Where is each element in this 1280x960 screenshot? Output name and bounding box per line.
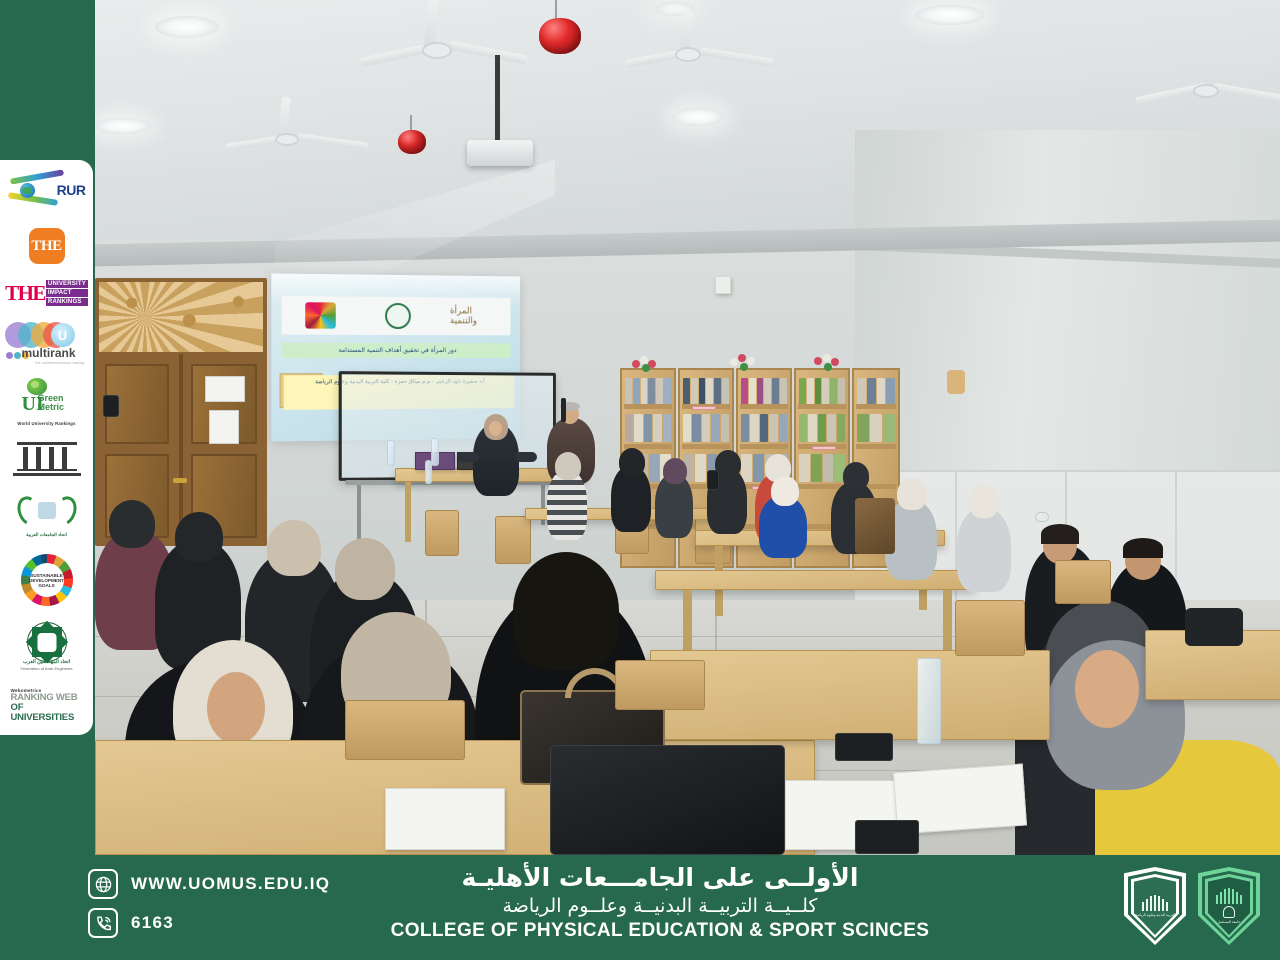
contact-block: WWW.UOMUS.EDU.IQ 6163 bbox=[88, 869, 388, 947]
shoulder-bag bbox=[855, 498, 895, 554]
greenmetric-icon: UI Green Metric World University Ranking… bbox=[5, 378, 89, 426]
ranking-logo-webometrics: Webometrics RANKING WEB OF UNIVERSITIES bbox=[5, 688, 89, 723]
footer-line-en: COLLEGE OF PHYSICAL EDUCATION & SPORT SC… bbox=[380, 919, 940, 943]
document-stack bbox=[385, 788, 505, 850]
arab-universities-caption: اتحاد الجامعات العربية bbox=[12, 532, 82, 538]
ceiling-fan bbox=[225, 105, 375, 155]
audience-headscarf bbox=[771, 476, 799, 506]
footer-subline-ar: كلــيــة التربيــة البدنيــة وعلــوم الر… bbox=[380, 893, 940, 919]
whiteboard-leg bbox=[357, 485, 361, 540]
audience-headscarf bbox=[969, 486, 999, 518]
website-url: WWW.UOMUS.EDU.IQ bbox=[131, 874, 330, 894]
door-handle[interactable] bbox=[173, 478, 187, 483]
university-crest-caption: جامعة المستقبل bbox=[1218, 920, 1241, 924]
door-notice bbox=[209, 410, 239, 444]
ranking-logo-unesco-columns bbox=[5, 442, 89, 478]
fae-caption-en: Federation of Arab Engineers bbox=[14, 666, 80, 671]
audience-headscarf bbox=[843, 462, 869, 490]
the-impact-the-label: THE bbox=[5, 283, 45, 304]
ranking-logo-arab-universities: اتحاد الجامعات العربية bbox=[5, 494, 89, 538]
projector bbox=[467, 140, 533, 166]
ranking-logo-the-impact: THE UNIVERSITY IMPACT RANKINGS bbox=[5, 280, 89, 306]
contact-website-row[interactable]: WWW.UOMUS.EDU.IQ bbox=[88, 869, 388, 899]
chair bbox=[1055, 560, 1111, 604]
smartphone bbox=[835, 733, 893, 761]
event-photo: المرأة والتنمية دور المرأة في تحقيق أهدا… bbox=[95, 0, 1280, 855]
audience-headscarf bbox=[109, 500, 155, 548]
door-lattice-panel bbox=[99, 282, 263, 352]
audience-headscarf bbox=[335, 538, 395, 600]
wall-notice bbox=[715, 276, 731, 294]
audience-member-hair bbox=[1041, 524, 1079, 544]
audience-member-face bbox=[207, 672, 265, 744]
rur-icon: RUR bbox=[6, 170, 88, 212]
raised-smartphone bbox=[707, 470, 719, 490]
table-leg bbox=[405, 482, 411, 542]
the-impact-line1: UNIVERSITY bbox=[46, 280, 88, 288]
audience-headscarf bbox=[267, 520, 321, 576]
globe-www-icon bbox=[88, 869, 118, 899]
rur-label: RUR bbox=[57, 182, 86, 198]
contact-phone-row[interactable]: 6163 bbox=[88, 908, 388, 938]
ceiling-light bbox=[672, 108, 724, 126]
ranking-logo-multirank: U multirank the multidimensional ranking bbox=[5, 322, 89, 362]
multirank-u-mark: U bbox=[51, 323, 75, 347]
audience-member bbox=[547, 470, 587, 540]
audience-headscarf bbox=[619, 448, 645, 476]
ranking-logo-sdg: SUSTAINABLE DEVELOPMENT GOALS bbox=[5, 554, 89, 606]
greenmetric-name2: Metric bbox=[38, 403, 65, 412]
footer-titles: الأولــى على الجامـــعات الأهليـة كلــيـ… bbox=[380, 863, 940, 943]
ceiling-light bbox=[915, 5, 985, 25]
presenter-woman-face bbox=[489, 421, 502, 436]
webometrics-line2: OF UNIVERSITIES bbox=[11, 703, 89, 723]
ranking-logo-rur: RUR bbox=[5, 170, 89, 212]
audience-headscarf bbox=[555, 452, 581, 480]
presenter-woman-arm bbox=[457, 452, 479, 462]
water-bottle bbox=[917, 658, 941, 744]
multirank-tagline: the multidimensional ranking bbox=[36, 361, 85, 365]
audience-member-hair bbox=[1123, 538, 1163, 558]
flower-arrangement bbox=[728, 354, 762, 370]
ceiling-fan bbox=[1135, 60, 1280, 115]
audience-headscarf bbox=[897, 478, 927, 510]
phone-number: 6163 bbox=[131, 913, 174, 933]
flower-arrangement bbox=[812, 354, 846, 370]
slide-sdg-logo bbox=[296, 300, 345, 331]
college-crest-icon: التربية البدنية وعلوم الرياضة bbox=[1124, 867, 1186, 945]
chair bbox=[955, 600, 1025, 656]
fae-caption-ar: اتحاد المهندسين العرب bbox=[14, 659, 80, 665]
phone-icon bbox=[88, 908, 118, 938]
audience-headscarf bbox=[175, 512, 223, 562]
multirank-icon: U multirank the multidimensional ranking bbox=[5, 322, 89, 362]
projector-mount bbox=[495, 55, 500, 143]
chair bbox=[345, 700, 465, 760]
fire-ball-rod bbox=[410, 115, 412, 131]
slide-logo-row: المرأة والتنمية bbox=[282, 296, 511, 335]
footer-bar: WWW.UOMUS.EDU.IQ 6163 الأولــى على الجام… bbox=[0, 855, 1280, 960]
chair bbox=[495, 516, 531, 564]
door-notice bbox=[205, 376, 245, 402]
slide-title: دور المرأة في تحقيق أهداف التنمية المستد… bbox=[282, 343, 511, 358]
water-bottle bbox=[431, 438, 439, 466]
the-label: THE bbox=[29, 228, 65, 264]
university-crest-icon: جامعة المستقبل bbox=[1198, 867, 1260, 945]
ranking-logo-the: THE bbox=[5, 228, 89, 264]
the-impact-line2: IMPACT bbox=[46, 289, 88, 297]
ceiling-fan bbox=[360, 12, 530, 72]
sdg-wheel-icon: SUSTAINABLE DEVELOPMENT GOALS bbox=[21, 554, 73, 606]
chair bbox=[425, 510, 459, 556]
the-impact-line3: RANKINGS bbox=[46, 298, 88, 306]
ranking-logo-ui-greenmetric: UI Green Metric World University Ranking… bbox=[5, 378, 89, 426]
fire-suppression-ball bbox=[539, 18, 581, 54]
ceiling-light bbox=[95, 118, 151, 134]
audience-headscarf bbox=[663, 458, 687, 484]
crest-group: التربية البدنية وعلوم الرياضة جامعة المس… bbox=[1124, 867, 1260, 945]
audience-member-face bbox=[1075, 650, 1139, 728]
raised-smartphone bbox=[103, 395, 119, 417]
footer-headline-ar: الأولــى على الجامـــعات الأهليـة bbox=[380, 863, 940, 893]
smartphone bbox=[855, 820, 919, 854]
audience-member-hair bbox=[513, 552, 619, 670]
rankings-sidebar: RUR THE THE UNIVERSITY IMPACT RANKINGS U bbox=[0, 160, 93, 735]
laptop-bag bbox=[550, 745, 785, 855]
arab-universities-icon: اتحاد الجامعات العربية bbox=[12, 494, 82, 538]
flower-arrangement bbox=[630, 356, 664, 372]
ranking-logo-federation-arab-engineers: اتحاد المهندسين العرب Federation of Arab… bbox=[5, 622, 89, 672]
microphone bbox=[561, 398, 566, 422]
greenmetric-caption: World University Rankings bbox=[5, 421, 89, 426]
chair bbox=[615, 660, 705, 710]
multirank-label: multirank bbox=[22, 346, 76, 360]
water-bottle bbox=[387, 440, 395, 466]
backpack bbox=[1185, 608, 1243, 646]
wall-speaker bbox=[947, 370, 965, 394]
columns-icon bbox=[17, 442, 77, 478]
foreground-table bbox=[650, 650, 1050, 740]
college-crest-caption: التربية البدنية وعلوم الرياضة bbox=[1135, 913, 1174, 917]
water-bottle bbox=[425, 460, 432, 484]
ceiling-fan bbox=[625, 20, 775, 75]
federation-arab-engineers-icon: اتحاد المهندسين العرب Federation of Arab… bbox=[14, 622, 80, 672]
fire-suppression-ball bbox=[398, 130, 426, 154]
presenter-woman-arm bbox=[515, 452, 537, 462]
sdg-line3: GOALS bbox=[38, 583, 54, 588]
fire-ball-rod bbox=[555, 0, 557, 20]
slide-women-logo: المرأة والتنمية bbox=[450, 301, 497, 331]
audience-member bbox=[957, 508, 1011, 592]
ceiling-light bbox=[155, 16, 219, 38]
wall-socket bbox=[1035, 512, 1049, 522]
slide-university-seal bbox=[374, 301, 422, 331]
